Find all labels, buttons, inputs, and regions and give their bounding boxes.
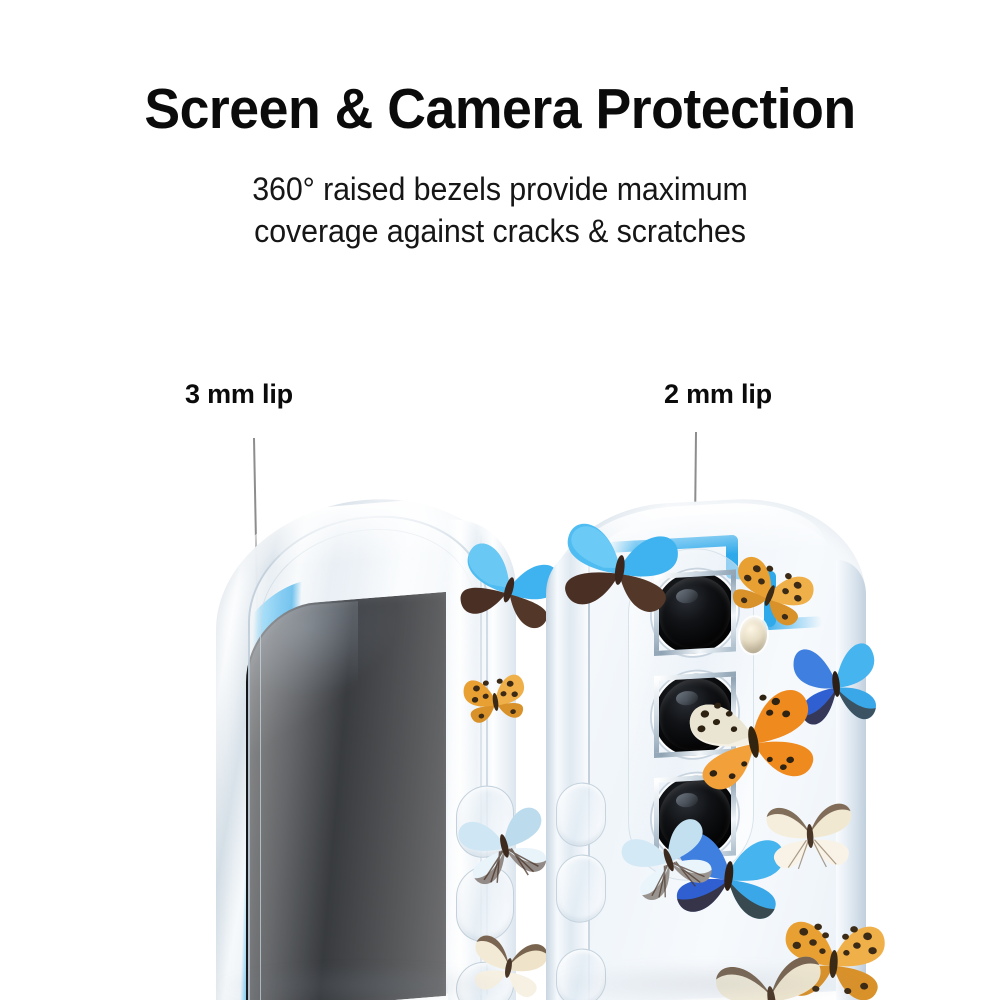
phone-case-back-view (536, 506, 876, 1000)
page-subtitle: 360° raised bezels provide maximum cover… (25, 168, 975, 252)
raised-bezel-lip-inner (260, 521, 475, 1000)
callout-label-3mm-lip: 3 mm lip (185, 379, 293, 410)
page-title: Screen & Camera Protection (30, 78, 970, 140)
device-shadow-right (548, 962, 868, 1000)
device-shadow-left (216, 965, 516, 1000)
case-left-edge-right-device (546, 546, 590, 1000)
callout-label-2mm-lip: 2 mm lip (664, 379, 772, 410)
subtitle-line-2: coverage against cracks & scratches (25, 210, 975, 252)
volume-down-button-cover-right (556, 853, 606, 924)
phone-case-front-view (212, 512, 542, 1000)
case-left-edge-seam (588, 554, 590, 1000)
volume-up-button-cover-right (556, 781, 606, 848)
product-feature-slide: Screen & Camera Protection 360° raised b… (0, 0, 1000, 1000)
subtitle-line-1: 360° raised bezels provide maximum (25, 168, 975, 210)
case-right-edge (836, 558, 866, 1000)
